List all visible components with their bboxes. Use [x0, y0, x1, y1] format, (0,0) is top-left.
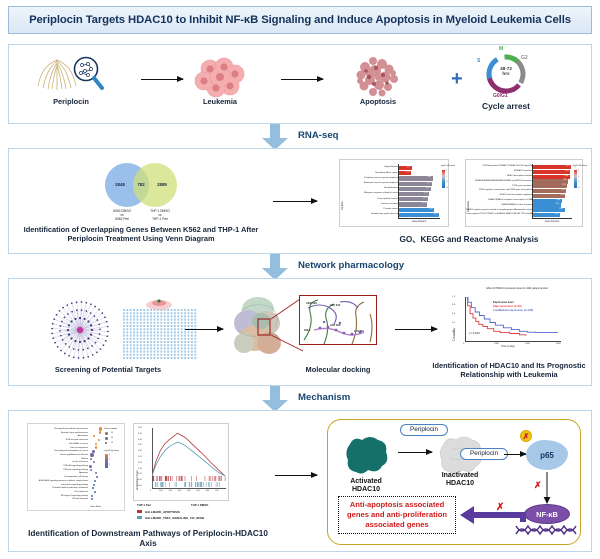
cycle-phase-M: M [499, 46, 503, 52]
venn-count-overlap: 782 [131, 182, 151, 187]
rc-xaxis [532, 218, 572, 219]
dotplot-point [90, 469, 92, 471]
gsea-ytick: 0.30 [138, 450, 142, 452]
bar-category-label: Hereditary diffuse cancer [340, 172, 398, 174]
gsea-legend-tnfa: HALLMARK_TNFA_SIGNALING_VIA_NFKB [145, 516, 204, 520]
dotplot-category-label: Apoptosis [28, 472, 88, 474]
bar-category-label: Transcriptional TP53 TP53BP1 and BARD1 B… [466, 213, 532, 215]
panel-rnaseq-analysis: 2848 782 2889 K562 DMSO vs K562 Peri THP… [8, 148, 592, 254]
gsea-ytick: 0.00 [138, 485, 142, 487]
bar-category-label: Genitourinary system disease [340, 213, 398, 215]
graphical-abstract-figure: Periplocin Targets HDAC10 to Inhibit NF-… [0, 0, 600, 559]
gsea-xtick: 100 [159, 490, 162, 492]
dotplot-point [93, 461, 95, 463]
km-ytick: 0.8 [452, 304, 455, 306]
p65-label: p65 [540, 451, 554, 460]
bar-category-label: RUNX1 regulates genes involved in megaka… [466, 209, 532, 211]
dotplot-category-label: Human papillomavirus infection [28, 454, 88, 456]
legend-tick: 2 [578, 170, 579, 172]
gsea-xaxis [152, 488, 226, 489]
caption-docking: Molecular docking [283, 365, 393, 374]
dotplot-point [94, 480, 96, 482]
flow-arrow-6 [275, 475, 317, 476]
bar-value-label: (50) [423, 198, 426, 200]
bar-category-label: Prostate cancer [340, 208, 398, 210]
dotplot-color-key [105, 454, 108, 468]
bar-value-label: (61) [429, 209, 432, 211]
dotplot-point [98, 439, 100, 441]
bar-value-label: (25) [560, 195, 563, 197]
connector-arrow-mechanism [262, 386, 288, 412]
legend-tick: -2 [578, 181, 580, 183]
connector-arrow-rnaseq [262, 124, 288, 150]
go-xlabel: Gene Percent [398, 221, 440, 223]
periplocin-pill-2: Periplocin [460, 448, 508, 460]
gsea-curves [152, 428, 226, 476]
page-title: Periplocin Targets HDAC10 to Inhibit NF-… [29, 14, 571, 26]
bar-category-label: ERBB2/ERBB3/ERBB4/ERBB4 ERBB4 and HER2 i… [466, 180, 532, 182]
km-legend-title: Expression level [493, 301, 513, 305]
bar-value-label: (28) [563, 180, 566, 182]
dotplot-category-label: Hematopoietic cell lineage [28, 476, 88, 478]
dotplot-color-key-label: 3 [109, 459, 110, 461]
bar-value-label: (55) [426, 188, 429, 190]
go-bar-chart: Go Item Nephrolithiasis(22)Hereditary di… [339, 159, 449, 227]
dotplot-point [95, 446, 97, 448]
go-xaxis [398, 218, 440, 219]
badge-x-mark: ✗ [523, 432, 530, 441]
gsea-xtick: 300 [178, 490, 181, 492]
km-xaxis [465, 341, 561, 342]
gsea-xtick: 600 [206, 490, 209, 492]
bar-segment [399, 213, 439, 217]
caption-enrichment: GO、KEGG and Reactome Analysis [379, 235, 559, 245]
bar-value-label: (21) [406, 172, 409, 174]
dotplot-point [91, 498, 93, 500]
km-ytick: 1.0 [452, 296, 455, 298]
dotplot-size-key-label: 20 [111, 437, 113, 439]
bar-value-label: (17) [556, 204, 559, 206]
bar-category-label: Peripheral nervous system neoplasm [340, 177, 398, 179]
bar-category-label: Nephrolithiasis [340, 166, 398, 168]
dotplot-category-label: Transcriptional misregulation in cancer [28, 450, 88, 452]
dotplot-category-label: ECM-receptor interaction [28, 439, 88, 441]
plus-sign: + [451, 69, 463, 89]
target-network-diagram [49, 299, 111, 361]
apoptotic-debris-icon [349, 53, 407, 99]
gsea-xtick: 700 [215, 490, 218, 492]
residue-label-0: ARG 609 [306, 302, 317, 305]
dotplot-point [90, 453, 93, 456]
p65-protein: p65 [526, 440, 568, 470]
legend-tick: -4 [578, 187, 580, 189]
bar-category-label: RUNX1 and transcription regulation [466, 194, 532, 196]
bar-category-label: SMAD2/SMAD3 nuclear transport [466, 204, 532, 206]
residue-label-2: ASP 620 [330, 324, 340, 327]
bar-category-label: Autonomic nervous system neoplasm [340, 182, 398, 184]
dotplot-color-key-label: 2 [109, 464, 110, 466]
bar-value-label: (22) [407, 167, 410, 169]
dotplot-category-label: Viral carcinogenesis [28, 447, 88, 449]
gsea-legend-swatch-apoptosis [137, 510, 142, 513]
venn-count-k562-only: 2848 [109, 182, 131, 187]
legend-tick: 0 [446, 176, 447, 178]
dotplot-size-key [105, 432, 108, 435]
gsea-ytick: 0.05 [138, 479, 142, 481]
mech-arrow-2 [504, 454, 526, 455]
venn-label-k562: K562 DMSO vs K562 Peri [103, 209, 141, 221]
dotplot-point [92, 487, 94, 489]
caption-leukemia: Leukemia [189, 97, 251, 106]
flow-arrow-3 [273, 201, 317, 202]
dotplot-category-label: PI3K-Akt signaling pathway [28, 465, 88, 467]
blocked-transcription-arrow [456, 504, 528, 526]
venn-label-thp1: THP-1 DMSO vs THP-1 Peri [140, 209, 180, 221]
dotplot-size-key-label: 10 [111, 442, 113, 444]
reactome-bar-chart: Reactome CD28 dependent PI3K/AKT PI3K/AK… [465, 159, 583, 227]
rc-legend-colorbar [574, 170, 577, 188]
gsea-xtick: 400 [187, 490, 190, 492]
magnifier-icon [71, 55, 105, 91]
dotplot-size-legend-title: Gene number [104, 428, 117, 430]
km-pvalue: p = 0.0001 [469, 333, 480, 335]
legend-tick: 2 [446, 170, 447, 172]
dotplot-point [99, 427, 102, 430]
km-ylabel: Probability [453, 328, 456, 339]
dotplot-category-label: Amoebiasis [28, 435, 88, 437]
connector-arrow-netpharm [262, 254, 288, 280]
caption-cycle-arrest: Cycle arrest [473, 101, 539, 112]
dotplot-category-label: Malaria [28, 458, 88, 460]
dotplot-category-label: Focal adhesion [28, 491, 88, 493]
caption-pathways: Identification of Downstream Pathways of… [23, 529, 273, 550]
km-legend-low: Low/Medium expression (n=130) [493, 309, 533, 313]
flow-arrow-2 [281, 79, 323, 80]
gsea-xtick: 500 [197, 490, 200, 492]
bar-value-label: (15) [555, 214, 558, 216]
dotplot-point [90, 458, 92, 460]
blocked-genes-text: Anti-apoptosis associated genes and anti… [341, 500, 453, 531]
bar-category-label: CD28 dependent PI3K/AKT PI3K/AKT/mTOR si… [466, 165, 532, 167]
dotplot-category-label: Proximal tubule bicarbonate reclamation [28, 487, 88, 489]
bar-category-label: Ovarian carcinoma [340, 203, 398, 205]
dotplot-xlabel: Gene Ratio [90, 506, 101, 508]
nfkb-label: NF-κB [536, 510, 558, 519]
connector-label-netpharm: Network pharmacology [298, 260, 404, 271]
go-legend-title: log10 (Pvalue) [441, 165, 455, 167]
dotplot-point [95, 472, 97, 474]
gsea-condition-right: THP-1 DMSO [191, 503, 208, 507]
caption-apoptosis: Apoptosis [345, 97, 411, 106]
kaplan-meier-chart: Effect of HDAC10 expression level on LAM… [449, 287, 567, 353]
residue-label-3: HIS 1 [304, 329, 311, 332]
go-legend-colorbar [442, 170, 445, 188]
dotplot-point [94, 491, 96, 493]
dotplot-point [95, 443, 97, 445]
gsea-ytick: 0.35 [138, 444, 142, 446]
caption-screening: Screening of Potential Targets [33, 365, 183, 374]
bar-category-label: Ovary epithelial cancer [340, 198, 398, 200]
km-ytick: 0.2 [452, 331, 455, 333]
dotplot-category-label: Insulin resistance [28, 461, 88, 463]
km-ytick: 0.4 [452, 322, 455, 324]
bar-value-label: (16) [560, 209, 563, 211]
mechanism-card: Activated HDAC10 Periplocin Inactivated … [327, 419, 581, 545]
gsea-ytick: 0.15 [138, 468, 142, 470]
dotplot-point [91, 495, 93, 497]
gsea-xtick: 200 [169, 490, 172, 492]
p65-to-nfkb-arrow [540, 472, 554, 504]
mech-arrow-1 [398, 452, 432, 453]
dotplot-category-label: MicroRNAs in cancer [28, 443, 88, 445]
cycle-phase-G0G1: G0/G1 [493, 93, 508, 99]
dotplot-color-legend-title: -log10 (Qvalue) [104, 450, 119, 452]
gsea-ytick: 0.50 [138, 427, 142, 429]
dotplot-point [93, 435, 95, 437]
bar-value-label: (26) [561, 190, 564, 192]
caption-km: Identification of HDAC10 and Its Prognos… [429, 361, 589, 380]
cycle-duration: 48-72hrs [491, 66, 521, 77]
gsea-ytick: 0.10 [138, 473, 142, 475]
cycle-phase-G2: G2 [521, 55, 528, 61]
gsea-ytick: 0.40 [138, 439, 142, 441]
dotplot-size-key [105, 437, 108, 440]
phospho-block-badge: ✗ [520, 430, 532, 442]
dotplot-category-label: Intracellular signaling pathway [28, 484, 88, 486]
gsea-legend-swatch-tnfa [137, 516, 142, 519]
dotplot-category-label: TGF-beta signaling pathway [28, 469, 88, 471]
caption-periplocin: Periplocin [35, 97, 107, 106]
dotplot-size-key-label: 30 [111, 432, 113, 434]
bar-category-label: PTEN regulates transcription and PTEN ge… [466, 189, 532, 191]
activated-hdac10-icon [340, 434, 392, 476]
legend-tick: -2 [446, 181, 448, 183]
target-column-matrix [121, 299, 197, 361]
bar-category-label: Malignant neoplasm of body of uterus [340, 192, 398, 194]
bar-category-label: TP53 gene promoters [466, 185, 532, 187]
dotplot-category-label: Systemic lupus erythematosus [28, 432, 88, 434]
km-legend-high: High expression (n=43) [493, 305, 522, 309]
bar-category-label: HDAC deacetylate histones [466, 175, 532, 177]
cycle-phase-S: S [477, 58, 480, 64]
dotplot-category-label: AGE-RAGE signaling pathway in diabetic c… [28, 480, 88, 482]
leukemia-cells-icon [194, 57, 246, 97]
km-ytick: 0.0 [452, 340, 455, 342]
rc-legend-title: log10 (Pvalue) [573, 165, 587, 167]
x-mark-p65-nfkb: ✗ [534, 480, 542, 491]
connector-label-rnaseq: RNA-seq [298, 130, 339, 141]
dotplot-color-key-label: 4 [109, 454, 110, 456]
bar-value-label: (27) [562, 185, 565, 187]
bar-value-label: (30) [565, 176, 568, 178]
bar-value-label: (57) [427, 183, 430, 185]
kegg-dotplot: Neutrophil extracellular trap formationS… [27, 423, 125, 511]
panel-mechanism: Neutrophil extracellular trap formationS… [8, 410, 592, 552]
figure-title-bar: Periplocin Targets HDAC10 to Inhibit NF-… [8, 6, 592, 34]
km-title: Effect of HDAC10 expression level on LAM… [473, 288, 561, 291]
km-ytick: 0.6 [452, 313, 455, 315]
residue-label-1: LEU 612 [330, 304, 340, 307]
bar-category-label: SMAD2/SMAD3 complexes transcription in D… [466, 199, 532, 201]
bar-value-label: (58) [428, 177, 431, 179]
bar-category-label: PI3K/AKT activation [466, 170, 532, 172]
nfkb-protein: NF-κB [524, 504, 570, 524]
flow-arrow-4 [185, 329, 223, 330]
dotplot-point [89, 465, 92, 468]
bar-value-label: (52) [424, 193, 427, 195]
dotplot-size-key [105, 442, 107, 444]
bar-value-label: (69) [434, 214, 437, 216]
dotplot-point [92, 450, 95, 453]
dotplot-point [96, 476, 98, 478]
x-mark-transcription: ✗ [496, 502, 504, 513]
gsea-xtick: 0 [150, 490, 151, 492]
dotplot-category-label: Neutrophil extracellular trap formation [28, 428, 88, 430]
flow-arrow-1 [141, 79, 183, 80]
activated-hdac10-label: Activated HDAC10 [334, 478, 398, 495]
connector-label-mechanism: Mechanism [298, 392, 350, 403]
bar-value-label: (18) [557, 200, 560, 202]
molecular-docking-view: ARG 609 LEU 612 ASP 620 HIS 1 LYS 715 [299, 295, 377, 345]
dotplot-category-label: NF-kappa B signaling pathway [28, 495, 88, 497]
caption-venn: Identification of Overlapping Genes Betw… [21, 225, 261, 244]
blocked-genes-box: Anti-apoptosis associated genes and anti… [338, 496, 456, 534]
venn-count-thp1-only: 2889 [151, 182, 173, 187]
gsea-ytick: 0.45 [138, 433, 142, 435]
bar-value-label: (31) [565, 171, 568, 173]
residue-label-4: LYS 715 [354, 330, 364, 333]
legend-tick: -4 [446, 187, 448, 189]
gsea-condition-left: THP-1 Peri [137, 503, 151, 507]
dotplot-point [99, 431, 102, 434]
panel-phenotype: Periplocin Leukemia [8, 44, 592, 124]
gsea-legend-apoptosis: HALLMARK_APOPTOSIS [145, 510, 180, 514]
bar-value-label: (32) [566, 166, 569, 168]
gsea-ytick: 0.20 [138, 462, 142, 464]
rc-xlabel: Gene Percent [532, 221, 572, 223]
km-xlabel: Time in days [449, 345, 567, 348]
legend-tick: 0 [578, 176, 579, 178]
dotplot-point [93, 484, 95, 486]
flow-arrow-5 [395, 329, 437, 330]
panel-network-pharmacology: Screening of Potential Targets [8, 278, 592, 386]
gsea-ytick: 0.25 [138, 456, 142, 458]
gsea-chart: Enrichment Score 0.500.450.400.350.300.2… [133, 423, 229, 501]
gsea-rank-ticks [152, 476, 226, 488]
inactivated-hdac10-label: Inactivated HDAC10 [428, 472, 492, 489]
bar-category-label: Neuroblastoma [340, 187, 398, 189]
dotplot-category-label: Platelet activation [28, 498, 88, 500]
bar-value-label: (49) [422, 203, 425, 205]
